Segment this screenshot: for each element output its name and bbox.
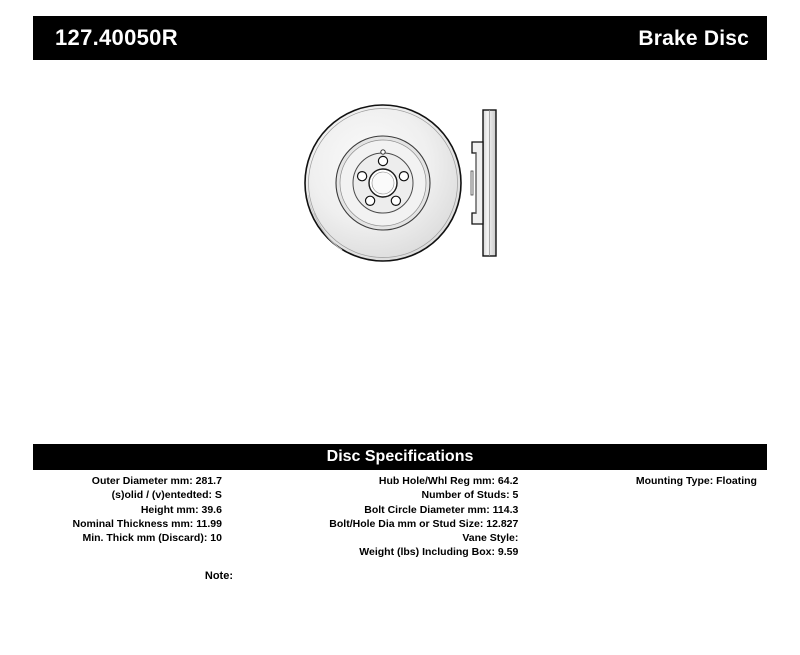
spec-nominal-thickness: Nominal Thickness mm: 11.99 [33, 517, 222, 531]
part-number: 127.40050R [55, 27, 178, 49]
spec-number-of-studs: Number of Studs: 5 [240, 488, 518, 502]
product-type-label: Brake Disc [638, 28, 749, 49]
spec-column-left: Outer Diameter mm: 281.7 (s)olid / (v)en… [33, 474, 222, 545]
spec-columns: Outer Diameter mm: 281.7 (s)olid / (v)en… [33, 474, 767, 560]
spec-height: Height mm: 39.6 [33, 503, 222, 517]
spec-solid-vented: (s)olid / (v)entedted: S [33, 488, 222, 502]
header-bar: 127.40050R Brake Disc [33, 16, 767, 60]
spec-column-middle: Hub Hole/Whl Reg mm: 64.2 Number of Stud… [222, 474, 518, 560]
spec-bolt-circle-diameter: Bolt Circle Diameter mm: 114.3 [240, 503, 518, 517]
spec-column-right: Mounting Type: Floating [518, 474, 767, 488]
rotor-face-view [305, 105, 461, 261]
spec-weight: Weight (lbs) Including Box: 9.59 [240, 545, 518, 559]
spec-outer-diameter: Outer Diameter mm: 281.7 [33, 474, 222, 488]
spec-bolt-hole-dia: Bolt/Hole Dia mm or Stud Size: 12.827 [240, 517, 518, 531]
spec-section-title: Disc Specifications [327, 449, 474, 465]
spec-mounting-type: Mounting Type: Floating [518, 474, 757, 488]
rotor-edge-view [471, 110, 496, 256]
spec-section-header: Disc Specifications [33, 444, 767, 470]
note-label: Note: [33, 570, 233, 582]
spec-min-thickness: Min. Thick mm (Discard): 10 [33, 531, 222, 545]
product-image [290, 95, 530, 280]
spec-hub-hole: Hub Hole/Whl Reg mm: 64.2 [240, 474, 518, 488]
spec-vane-style: Vane Style: [240, 531, 518, 545]
brake-rotor-illustration [290, 95, 530, 280]
